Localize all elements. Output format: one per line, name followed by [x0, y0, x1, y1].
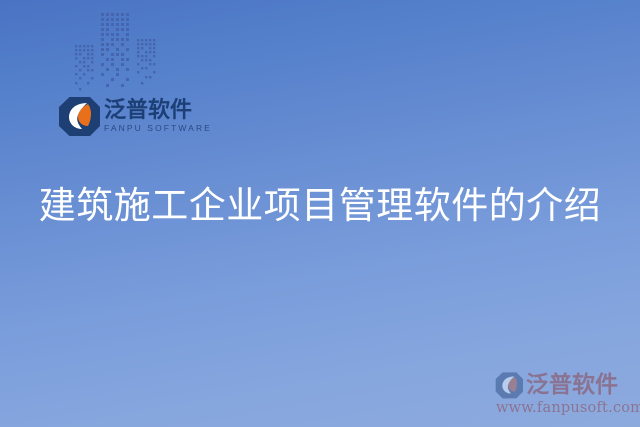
brand-logo: 泛普软件 FANPU SOFTWARE — [57, 94, 192, 138]
watermark-logo-row: 泛普软件 — [494, 370, 618, 400]
presentation-slide: 泛普软件 FANPU SOFTWARE 建筑施工企业项目管理软件的介绍 泛普软件… — [0, 0, 640, 427]
fanpu-hexagon-logo-icon — [494, 371, 524, 399]
slide-title: 建筑施工企业项目管理软件的介绍 — [0, 180, 640, 232]
watermark-url: www.fanpusoft.com — [496, 400, 640, 416]
brand-logo-text: 泛普软件 FANPU SOFTWARE — [104, 99, 212, 134]
pixel-building-skyline — [70, 0, 170, 95]
brand-name-en: FANPU SOFTWARE — [104, 123, 212, 133]
fanpu-hexagon-logo-icon — [57, 95, 101, 137]
watermark-name-cn: 泛普软件 — [526, 374, 618, 397]
watermark: 泛普软件 www.fanpusoft.com — [494, 370, 634, 416]
brand-name-cn: 泛普软件 — [104, 99, 212, 123]
